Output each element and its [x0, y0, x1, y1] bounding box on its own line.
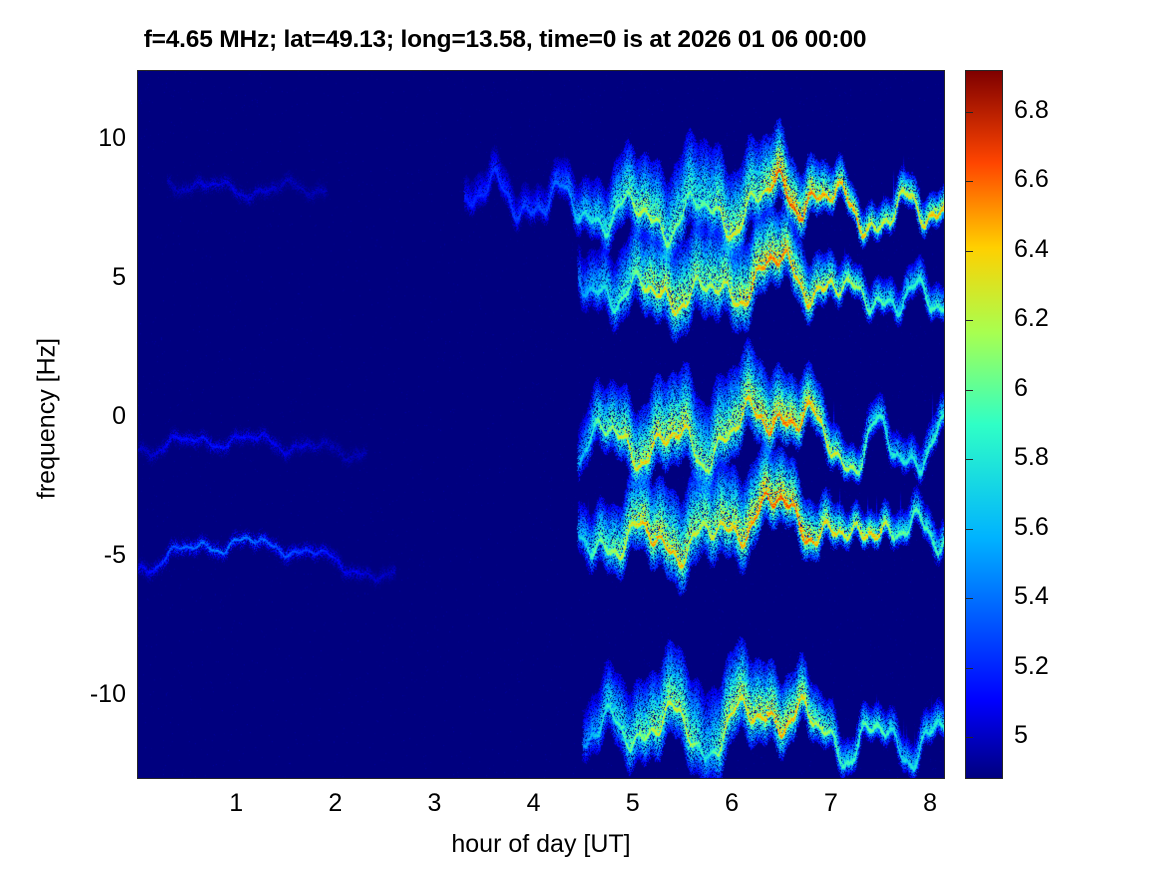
y-axis-label: frequency [Hz] [33, 289, 62, 549]
y-tick-label: 5 [112, 263, 126, 292]
y-tick-label: 0 [112, 402, 126, 431]
x-tick-label: 1 [216, 789, 256, 818]
colorbar-tick-label: 5.2 [1014, 652, 1049, 681]
colorbar-tick-mark [965, 668, 973, 669]
y-tick-label: -10 [90, 680, 126, 709]
x-tick-label: 2 [315, 789, 355, 818]
colorbar-tick-label: 6 [1014, 374, 1028, 403]
colorbar-tick-mark [965, 529, 973, 530]
colorbar-tick-label: 6.4 [1014, 235, 1049, 264]
colorbar-tick-label: 5.6 [1014, 513, 1049, 542]
colorbar-tick-mark [965, 251, 973, 252]
colorbar-tick-mark [965, 390, 973, 391]
y-tick-label: -5 [104, 541, 126, 570]
plot-axes[interactable] [137, 70, 945, 779]
doppler-spectrogram-figure: f=4.65 MHz; lat=49.13; long=13.58, time=… [0, 0, 1167, 875]
x-tick-label: 3 [414, 789, 454, 818]
colorbar-tick-mark [965, 459, 973, 460]
x-axis-label: hour of day [UT] [137, 830, 945, 859]
x-tick-label: 5 [613, 789, 653, 818]
colorbar-tick-label: 6.6 [1014, 165, 1049, 194]
colorbar-tick-label: 6.8 [1014, 96, 1049, 125]
colorbar-tick-mark [965, 737, 973, 738]
colorbar[interactable] [965, 70, 1003, 779]
colorbar-tick-mark [965, 320, 973, 321]
colorbar-tick-label: 5.4 [1014, 582, 1049, 611]
colorbar-tick-mark [965, 598, 973, 599]
colorbar-tick-label: 5 [1014, 721, 1028, 750]
x-tick-label: 7 [811, 789, 851, 818]
spectrogram-heatmap[interactable] [138, 71, 944, 778]
colorbar-tick-mark [965, 181, 973, 182]
colorbar-tick-label: 5.8 [1014, 443, 1049, 472]
x-tick-label: 8 [910, 789, 950, 818]
page-title: f=4.65 MHz; lat=49.13; long=13.58, time=… [0, 26, 1010, 54]
x-tick-label: 4 [514, 789, 554, 818]
y-tick-label: 10 [98, 124, 126, 153]
colorbar-gradient [966, 71, 1002, 778]
x-tick-label: 6 [712, 789, 752, 818]
colorbar-tick-mark [965, 112, 973, 113]
colorbar-tick-label: 6.2 [1014, 304, 1049, 333]
